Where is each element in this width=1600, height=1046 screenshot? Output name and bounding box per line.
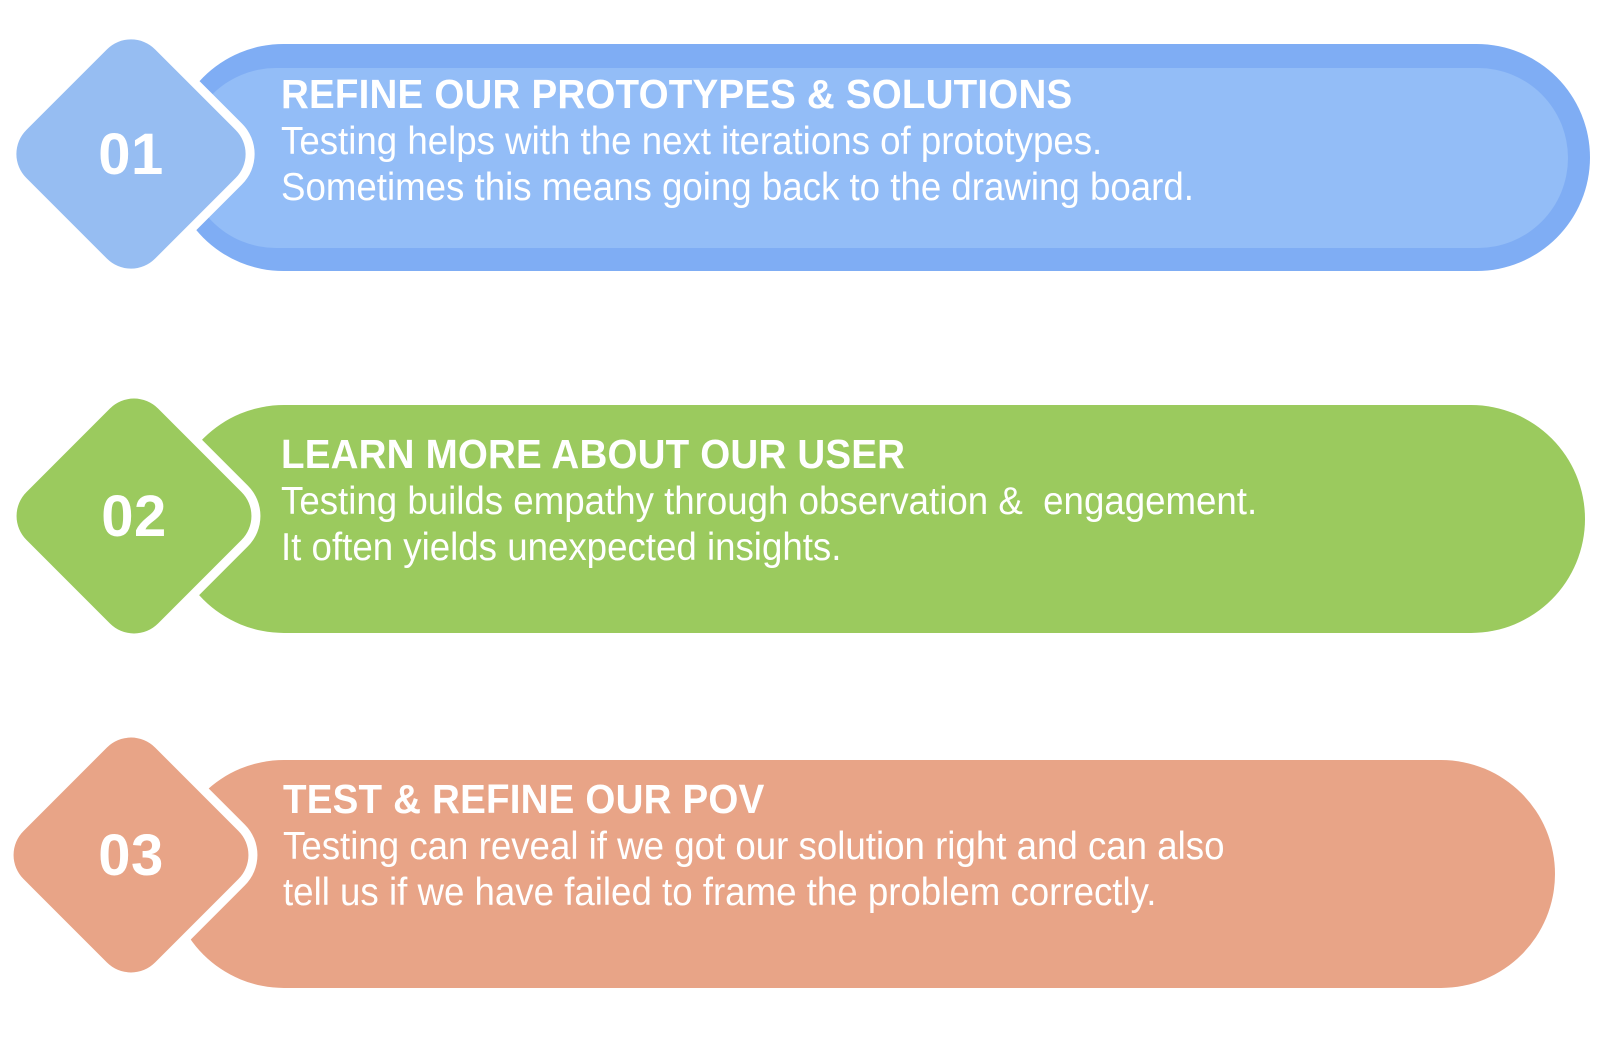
step-title-1: REFINE OUR PROTOTYPES & SOLUTIONS	[281, 72, 1494, 116]
step-body-line-3-1: Testing can reveal if we got our solutio…	[283, 824, 1496, 870]
step-number-2: 02	[41, 423, 227, 609]
step-title-3: TEST & REFINE OUR POV	[283, 777, 1496, 821]
step-body-line-1-1: Testing helps with the next iterations o…	[281, 119, 1494, 165]
step-body-line-1-2: Sometimes this means going back to the d…	[281, 165, 1494, 211]
step-badge-2: 02	[41, 423, 227, 609]
step-badge-1: 01	[40, 63, 222, 245]
step-body-line-3-2: tell us if we have failed to frame the p…	[283, 870, 1496, 916]
step-badge-3: 03	[38, 762, 224, 948]
infographic-canvas: 01 REFINE OUR PROTOTYPES & SOLUTIONS Tes…	[0, 0, 1600, 1046]
step-number-3: 03	[38, 762, 224, 948]
step-text-3: TEST & REFINE OUR POV Testing can reveal…	[283, 777, 1573, 916]
step-body-line-2-2: It often yields unexpected insights.	[281, 525, 1494, 571]
step-text-1: REFINE OUR PROTOTYPES & SOLUTIONS Testin…	[281, 72, 1571, 211]
step-text-2: LEARN MORE ABOUT OUR USER Testing builds…	[281, 432, 1571, 571]
step-body-line-2-1: Testing builds empathy through observati…	[281, 479, 1494, 525]
step-title-2: LEARN MORE ABOUT OUR USER	[281, 432, 1494, 476]
step-number-1: 01	[40, 63, 222, 245]
